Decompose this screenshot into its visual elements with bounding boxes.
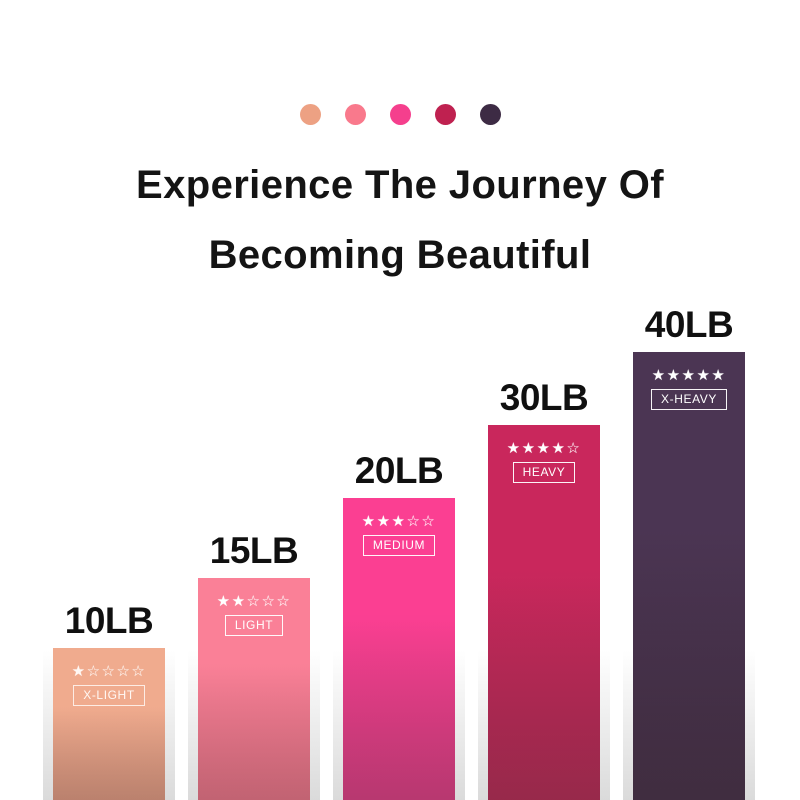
bar-weight-label: 40LB bbox=[645, 304, 733, 346]
bar-badge-block: ★★★☆☆MEDIUM bbox=[343, 514, 455, 556]
bar-shadow-right bbox=[455, 650, 465, 800]
resistance-bar-chart: 10LB★☆☆☆☆X-LIGHT15LB★★☆☆☆LIGHT20LB★★★☆☆M… bbox=[0, 0, 800, 800]
bar-weight-label: 20LB bbox=[355, 450, 443, 492]
star-rating-icon: ★★★★★ bbox=[633, 368, 745, 384]
star-rating-icon: ★★★★☆ bbox=[488, 441, 600, 457]
bar-badge-block: ★★★★★X-HEAVY bbox=[633, 368, 745, 410]
level-badge: MEDIUM bbox=[363, 535, 435, 556]
level-badge: X-LIGHT bbox=[73, 685, 145, 706]
bar-group-x-light[interactable]: 10LB★☆☆☆☆X-LIGHT bbox=[53, 648, 165, 800]
bar-badge-block: ★★★★☆HEAVY bbox=[488, 441, 600, 483]
bar-shadow-left bbox=[188, 650, 198, 800]
bar-weight-label: 30LB bbox=[500, 377, 588, 419]
level-badge: X-HEAVY bbox=[651, 389, 727, 410]
level-badge: HEAVY bbox=[513, 462, 576, 483]
bar-group-x-heavy[interactable]: 40LB★★★★★X-HEAVY bbox=[633, 352, 745, 800]
star-rating-icon: ★☆☆☆☆ bbox=[53, 664, 165, 680]
bar-badge-block: ★★☆☆☆LIGHT bbox=[198, 594, 310, 636]
bar-x-heavy[interactable]: ★★★★★X-HEAVY bbox=[633, 352, 745, 800]
bar-shadow-right bbox=[745, 650, 755, 800]
bar-group-light[interactable]: 15LB★★☆☆☆LIGHT bbox=[198, 578, 310, 800]
bar-shadow-left bbox=[333, 650, 343, 800]
bar-group-heavy[interactable]: 30LB★★★★☆HEAVY bbox=[488, 425, 600, 800]
bar-x-light[interactable]: ★☆☆☆☆X-LIGHT bbox=[53, 648, 165, 800]
bar-heavy[interactable]: ★★★★☆HEAVY bbox=[488, 425, 600, 800]
bar-shadow-right bbox=[165, 650, 175, 800]
bar-group-medium[interactable]: 20LB★★★☆☆MEDIUM bbox=[343, 498, 455, 800]
bar-badge-block: ★☆☆☆☆X-LIGHT bbox=[53, 664, 165, 706]
star-rating-icon: ★★☆☆☆ bbox=[198, 594, 310, 610]
bar-weight-label: 15LB bbox=[210, 530, 298, 572]
bar-shadow-left bbox=[43, 650, 53, 800]
bar-weight-label: 10LB bbox=[65, 600, 153, 642]
bar-medium[interactable]: ★★★☆☆MEDIUM bbox=[343, 498, 455, 800]
level-badge: LIGHT bbox=[225, 615, 283, 636]
bar-shadow-left bbox=[478, 650, 488, 800]
bar-light[interactable]: ★★☆☆☆LIGHT bbox=[198, 578, 310, 800]
bar-shadow-left bbox=[623, 650, 633, 800]
bar-shadow-right bbox=[600, 650, 610, 800]
poster-canvas: Experience The Journey Of Becoming Beaut… bbox=[0, 0, 800, 800]
star-rating-icon: ★★★☆☆ bbox=[343, 514, 455, 530]
bar-shadow-right bbox=[310, 650, 320, 800]
